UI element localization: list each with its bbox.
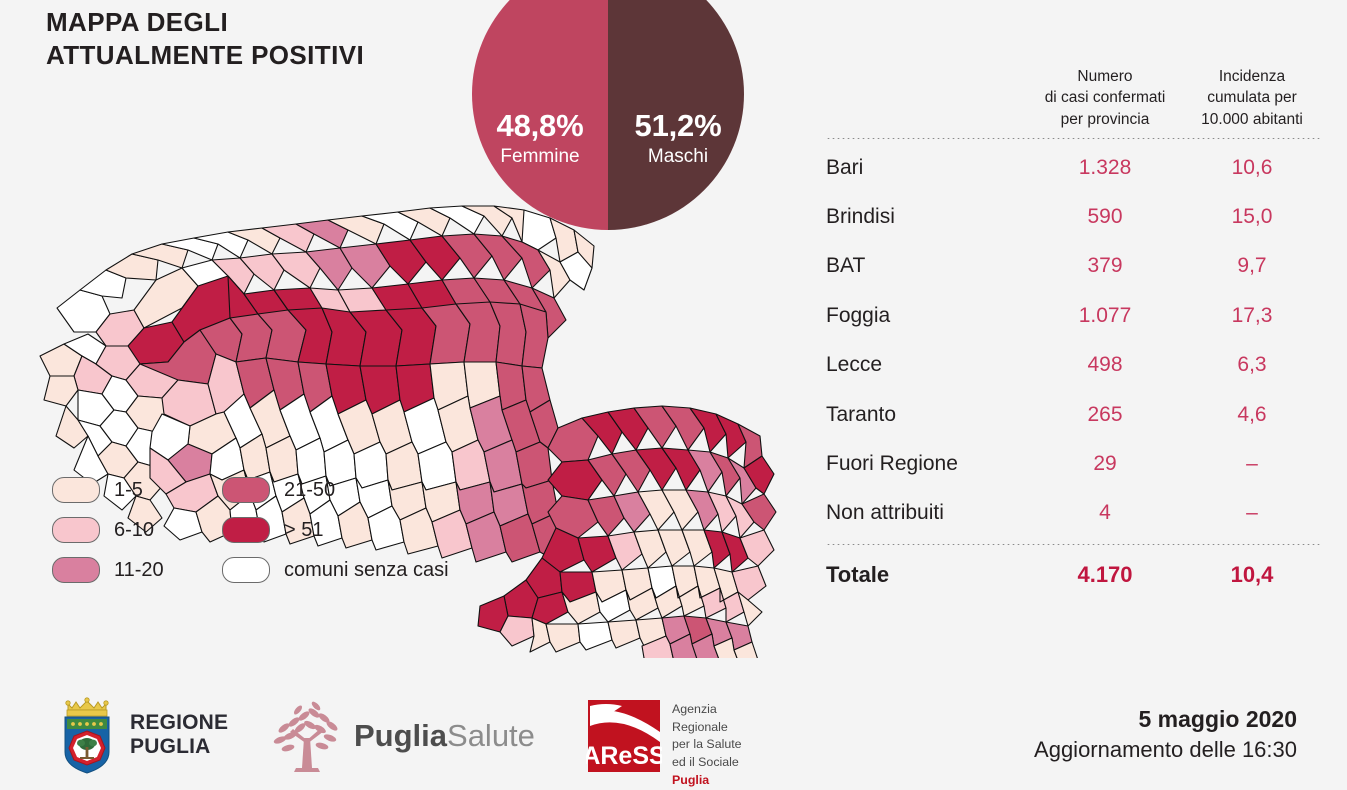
row-cases: 4 [1026,501,1184,525]
table-row: Brindisi 590 15,0 [826,192,1320,241]
row-cases: 29 [1026,452,1184,476]
aress-mark-icon: AReSS [586,698,662,774]
update-time: Aggiornamento delle 16:30 [1034,735,1297,765]
legend-swatch-5 [52,557,100,583]
header-cases-line-2: di casi confermati [1026,87,1184,108]
table-header-cases: Numero di casi confermati per provincia [1026,66,1184,132]
table-total-row: Totale 4.170 10,4 [826,549,1320,601]
update-info: 5 maggio 2020 Aggiornamento delle 16:30 [1034,704,1297,765]
legend-label-5: 11-20 [114,559,164,582]
regione-line-2: PUGLIA [130,735,228,759]
puglia-salute-light: Salute [447,718,535,753]
table-row: Bari 1.328 10,6 [826,143,1320,192]
page-title: MAPPA DEGLI ATTUALMENTE POSITIVI [46,6,364,72]
legend-swatch-6 [222,557,270,583]
footer: REGIONE PUGLIA [0,690,1347,787]
legend-label-1: 1-5 [114,479,143,502]
regione-line-1: REGIONE [130,711,228,735]
update-date: 5 maggio 2020 [1034,704,1297,735]
row-cases: 379 [1026,254,1184,278]
total-cases: 4.170 [1026,562,1184,588]
row-cases: 590 [1026,205,1184,229]
legend-item-2: 21-50 [222,477,449,503]
row-incidence: 17,3 [1184,304,1320,328]
logo-aress: AReSS Agenzia Regionale per la Salute ed… [586,698,742,790]
map-legend: 1-5 21-50 6-10 > 51 11-20 comuni senza c… [52,470,449,590]
legend-swatch-2 [222,477,270,503]
aress-line-1: Agenzia [672,701,742,719]
table-row: Fuori Regione 29 – [826,439,1320,488]
svg-text:AReSS: AReSS [586,742,662,770]
map-municipalities [40,206,782,658]
regione-puglia-crest-icon [58,696,116,774]
table-row: Non attribuiti 4 – [826,489,1320,538]
legend-label-2: 21-50 [284,479,335,502]
puglia-salute-bold: Puglia [354,718,447,753]
row-cases: 1.328 [1026,156,1184,180]
aress-region: Puglia [672,772,742,790]
row-province-name: Bari [826,156,1026,180]
aress-line-2: Regionale [672,719,742,737]
legend-label-3: 6-10 [114,519,154,542]
header-incidence-line-3: 10.000 abitanti [1184,109,1320,130]
legend-item-6: comuni senza casi [222,557,449,583]
row-province-name: BAT [826,254,1026,278]
logo-puglia-salute: PugliaSalute [270,698,535,774]
legend-item-5: 11-20 [52,557,222,583]
row-incidence: – [1184,501,1320,525]
legend-label-4: > 51 [284,519,323,542]
row-province-name: Lecce [826,353,1026,377]
header-cases-line-3: per provincia [1026,109,1184,130]
legend-swatch-1 [52,477,100,503]
province-cases-table: Numero di casi confermati per provincia … [826,24,1320,601]
aress-line-4: ed il Sociale [672,754,742,772]
table-row: Foggia 1.077 17,3 [826,291,1320,340]
total-incidence: 10,4 [1184,562,1320,588]
row-incidence: 15,0 [1184,205,1320,229]
table-header-province [826,130,1026,132]
puglia-salute-wordmark: PugliaSalute [354,718,535,754]
table-divider-top [826,138,1320,139]
row-province-name: Non attribuiti [826,501,1026,525]
aress-description: Agenzia Regionale per la Salute ed il So… [672,701,742,790]
page-title-line-2: ATTUALMENTE POSITIVI [46,39,364,72]
total-label: Totale [826,562,1026,588]
row-incidence: – [1184,452,1320,476]
header-incidence-line-1: Incidenza [1184,66,1320,87]
row-province-name: Brindisi [826,205,1026,229]
table-row: Taranto 265 4,6 [826,390,1320,439]
row-incidence: 4,6 [1184,403,1320,427]
page-title-line-1: MAPPA DEGLI [46,6,364,39]
header-incidence-line-2: cumulata per [1184,87,1320,108]
table-divider-bottom [826,544,1320,545]
legend-item-3: 6-10 [52,517,222,543]
legend-swatch-3 [52,517,100,543]
legend-item-4: > 51 [222,517,449,543]
legend-label-6: comuni senza casi [284,559,449,582]
table-row: Lecce 498 6,3 [826,341,1320,390]
row-incidence: 10,6 [1184,156,1320,180]
olive-tree-icon [270,698,344,774]
legend-item-1: 1-5 [52,477,222,503]
row-cases: 265 [1026,403,1184,427]
aress-line-3: per la Salute [672,736,742,754]
table-header-incidence: Incidenza cumulata per 10.000 abitanti [1184,66,1320,132]
legend-swatch-4 [222,517,270,543]
row-cases: 498 [1026,353,1184,377]
logo-regione-puglia: REGIONE PUGLIA [58,696,228,774]
header-cases-line-1: Numero [1026,66,1184,87]
row-province-name: Fuori Regione [826,452,1026,476]
row-incidence: 9,7 [1184,254,1320,278]
table-row: BAT 379 9,7 [826,242,1320,291]
table-header-row: Numero di casi confermati per provincia … [826,24,1320,132]
regione-puglia-wordmark: REGIONE PUGLIA [130,711,228,760]
row-province-name: Foggia [826,304,1026,328]
row-province-name: Taranto [826,403,1026,427]
row-cases: 1.077 [1026,304,1184,328]
row-incidence: 6,3 [1184,353,1320,377]
